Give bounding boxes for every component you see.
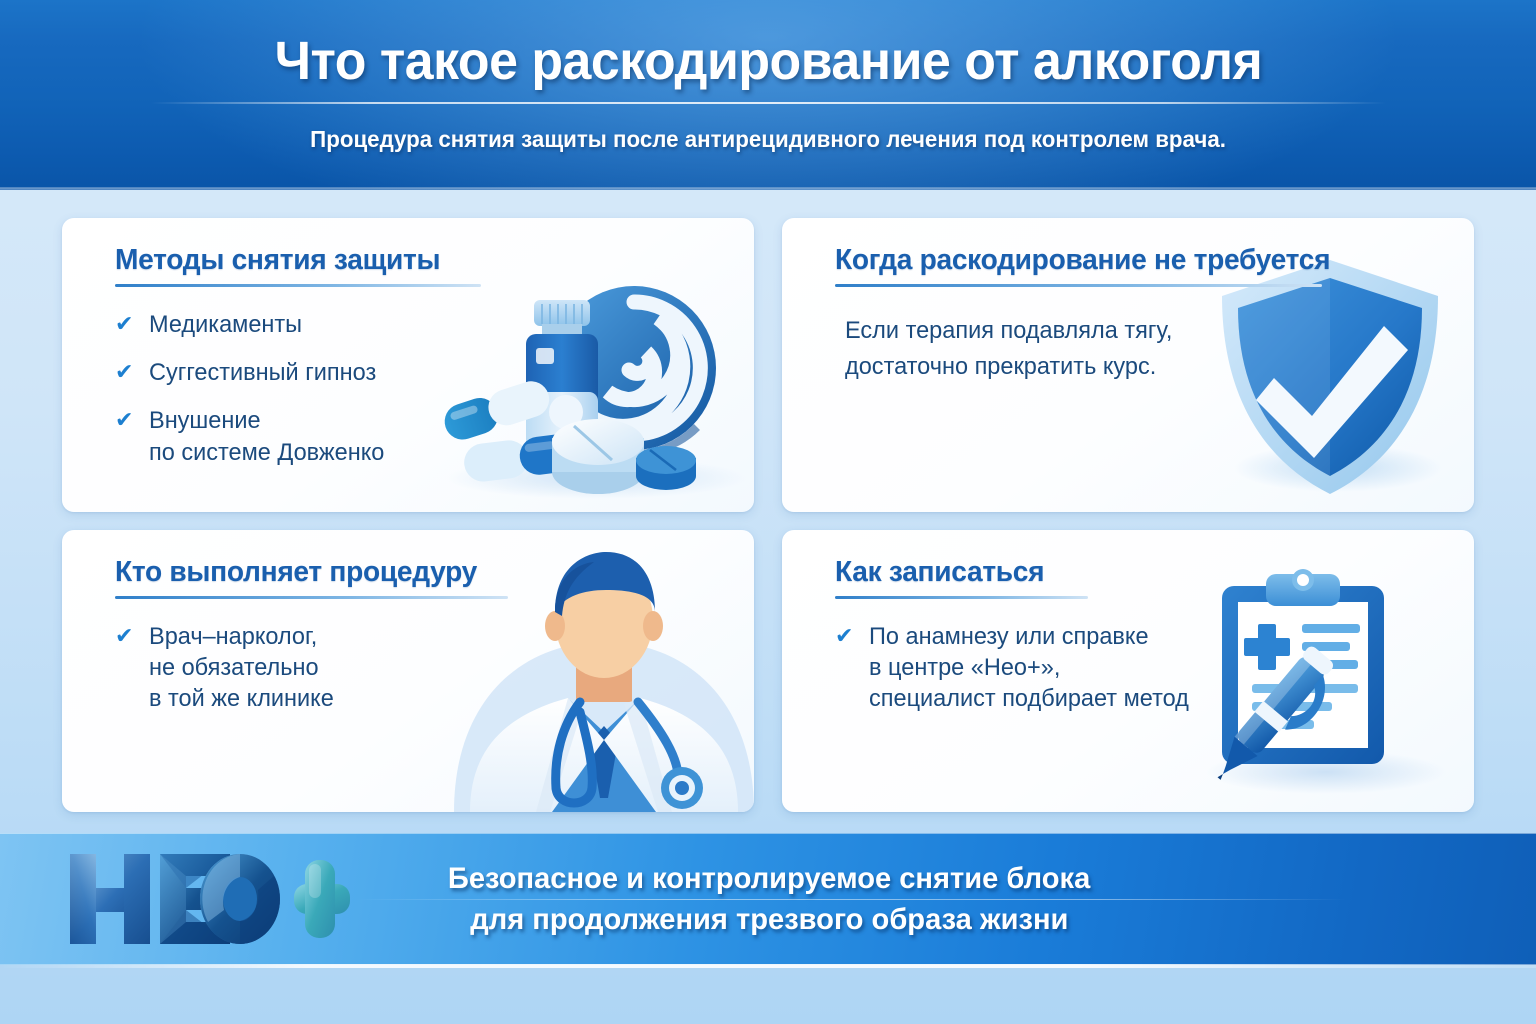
card-title-underline [115, 596, 508, 599]
card-title: Кто выполняет процедуру [115, 556, 735, 589]
footer-banner: Безопасное и контролируемое снятие блока… [0, 833, 1536, 965]
list-item: ✔ Врач–нарколог, не обязательно в той же… [115, 621, 754, 715]
neo-plus-logo [62, 846, 352, 952]
card-title-underline [115, 284, 481, 287]
footer-tagline-line1: Безопасное и контролируемое снятие блока [448, 858, 1090, 899]
card-title: Когда раскодирование не требуется [835, 244, 1455, 277]
card-paragraph: Если терапия подавляла тягу, достаточно … [845, 313, 1461, 384]
header-banner: Что такое раскодирование от алкоголя Про… [0, 0, 1536, 190]
card-title-underline [835, 284, 1322, 287]
card-title: Методы снятия защиты [115, 244, 735, 277]
card-title-underline [835, 596, 1088, 599]
check-icon: ✔ [115, 409, 139, 431]
card-title: Как записаться [835, 556, 1455, 589]
list-item-label: Медикаменты [149, 309, 302, 340]
card-how-to-book: Как записаться ✔ По анамнезу или справке… [782, 530, 1474, 812]
list-item: ✔ Медикаменты [115, 309, 754, 340]
list-item-label: По анамнезу или справке в центре «Нео+»,… [869, 621, 1189, 715]
card-who-performs: Кто выполняет процедуру ✔ Врач–нарколог,… [62, 530, 754, 812]
footer-tagline: Безопасное и контролируемое снятие блока… [362, 858, 1536, 941]
list-item-label: Суггестивный гипноз [149, 357, 376, 388]
check-icon: ✔ [115, 313, 139, 335]
check-icon: ✔ [115, 625, 139, 647]
bullet-list: ✔ По анамнезу или справке в центре «Нео+… [835, 621, 1474, 715]
infographic-poster: Что такое раскодирование от алкоголя Про… [0, 0, 1536, 1024]
card-grid: Методы снятия защиты ✔ Медикаменты ✔ Суг… [62, 218, 1474, 812]
list-item-label: Внушение по системе Довженко [149, 405, 384, 467]
card-methods: Методы снятия защиты ✔ Медикаменты ✔ Суг… [62, 218, 754, 512]
check-icon: ✔ [115, 361, 139, 383]
page-subtitle: Процедура снятия защиты после антирециди… [310, 126, 1226, 153]
bullet-list: ✔ Медикаменты ✔ Суггестивный гипноз ✔ Вн… [115, 309, 754, 468]
page-title: Что такое раскодирование от алкоголя [274, 30, 1262, 92]
list-item: ✔ По анамнезу или справке в центре «Нео+… [835, 621, 1474, 715]
card-when-not-needed: Когда раскодирование не требуется Если т… [782, 218, 1474, 512]
list-item: ✔ Внушение по системе Довженко [115, 405, 754, 467]
check-icon: ✔ [835, 625, 859, 647]
header-divider [151, 102, 1386, 104]
list-item: ✔ Суггестивный гипноз [115, 357, 754, 388]
footer-tagline-line2: для продолжения трезвого образа жизни [470, 899, 1068, 940]
bullet-list: ✔ Врач–нарколог, не обязательно в той же… [115, 621, 754, 715]
list-item-label: Врач–нарколог, не обязательно в той же к… [149, 621, 334, 715]
